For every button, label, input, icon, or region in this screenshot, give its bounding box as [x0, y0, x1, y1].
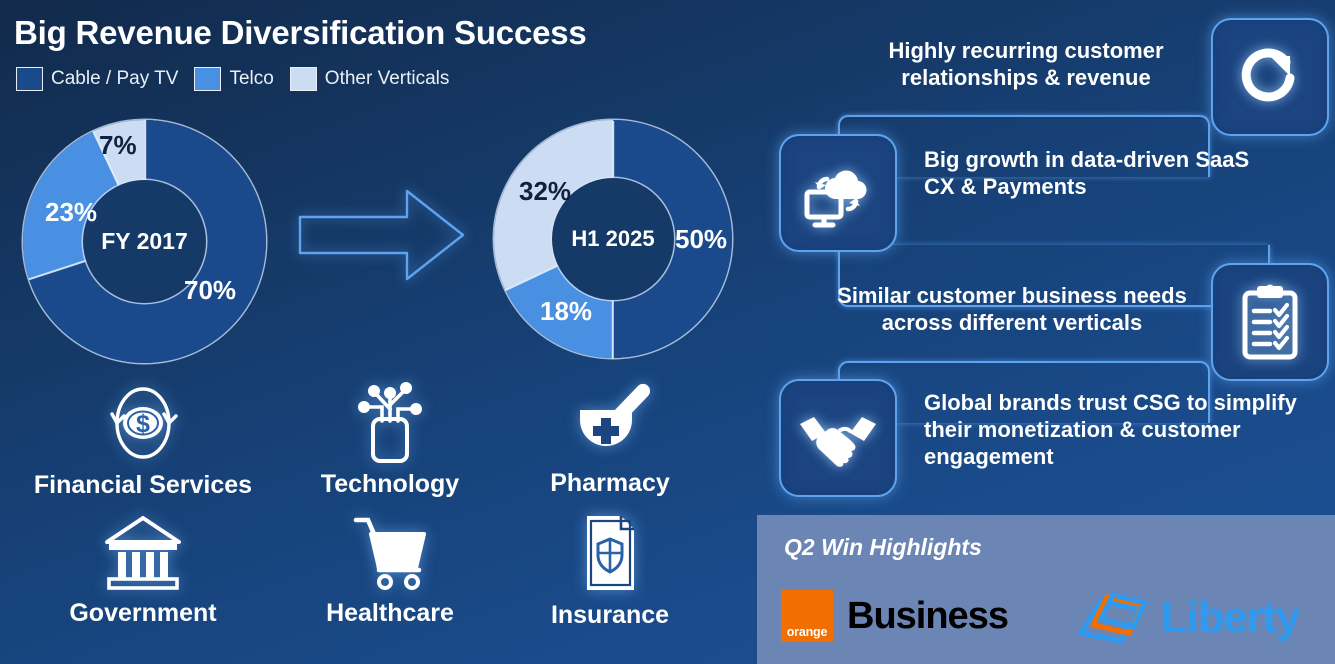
highlight-text-verticals: Similar customer business needs across d…	[820, 283, 1204, 337]
legend-label-cable: Cable / Pay TV	[51, 68, 178, 90]
vertical-label: Pharmacy	[515, 469, 705, 498]
highlight-text-global-brands: Global brands trust CSG to simplify thei…	[924, 390, 1304, 470]
vertical-financial-services[interactable]: $ Financial Services	[18, 378, 268, 500]
q2-panel-title: Q2 Win Highlights	[784, 534, 982, 561]
legend-label-telco: Telco	[229, 68, 273, 90]
donut-value-label-telco: 18%	[540, 296, 592, 327]
liberty-mark-icon	[1077, 591, 1151, 645]
donut-center-label: FY 2017	[101, 228, 188, 255]
legend-label-other: Other Verticals	[325, 68, 450, 90]
highlight-tile-saas[interactable]	[779, 134, 897, 252]
orange-mark-text: orange	[787, 625, 827, 639]
donut-value-label-other: 32%	[519, 176, 571, 207]
liberty-word: Liberty	[1161, 593, 1299, 643]
vertical-technology[interactable]: Technology	[290, 375, 490, 499]
highlight-tile-verticals[interactable]	[1211, 263, 1329, 381]
vertical-healthcare[interactable]: Healthcare	[290, 512, 490, 628]
q2-win-highlights-panel: Q2 Win Highlights orange Business Libert…	[757, 515, 1335, 664]
donut-value-label-cable: 70%	[184, 275, 236, 306]
donut-chart-h12025: H1 2025 50% 18% 32%	[494, 120, 732, 358]
cloud-monitor-sync-icon	[799, 156, 877, 230]
legend-item-cable: Cable / Pay TV	[16, 67, 178, 91]
shopping-cart-icon	[348, 512, 432, 592]
vertical-label: Financial Services	[18, 471, 268, 500]
highlight-text-saas: Big growth in data-driven SaaS CX & Paym…	[924, 147, 1284, 201]
slide-root: Big Revenue Diversification Success Cabl…	[0, 0, 1335, 664]
orange-business-word: Business	[847, 595, 1008, 638]
vertical-label: Insurance	[515, 601, 705, 630]
highlight-tile-recurring[interactable]	[1211, 18, 1329, 136]
mortar-pestle-icon	[566, 378, 654, 462]
handshake-icon	[796, 408, 880, 468]
vertical-label: Healthcare	[290, 599, 490, 628]
chart-legend: Cable / Pay TV Telco Other Verticals	[16, 67, 449, 91]
svg-text:$: $	[136, 410, 150, 438]
orange-mark: orange	[781, 590, 833, 642]
highlight-text-recurring: Highly recurring customer relationships …	[848, 38, 1204, 92]
donut-value-label-other: 7%	[99, 130, 137, 161]
right-arrow-icon	[295, 185, 470, 285]
orange-business-logo: orange Business	[781, 590, 1008, 642]
vertical-insurance[interactable]: Insurance	[515, 512, 705, 630]
legend-item-telco: Telco	[194, 67, 273, 91]
liberty-logo: Liberty	[1077, 591, 1299, 645]
circuit-tree-icon	[349, 375, 431, 463]
legend-swatch-cable	[16, 67, 43, 91]
refresh-arrow-icon	[1233, 40, 1307, 114]
vertical-label: Government	[18, 599, 268, 628]
page-title: Big Revenue Diversification Success	[14, 14, 587, 52]
legend-swatch-telco	[194, 67, 221, 91]
donut-chart-fy2017: FY 2017 70% 23% 7%	[23, 120, 266, 363]
vertical-pharmacy[interactable]: Pharmacy	[515, 378, 705, 498]
donut-value-label-telco: 23%	[45, 197, 97, 228]
legend-swatch-other	[290, 67, 317, 91]
legend-item-other: Other Verticals	[290, 67, 450, 91]
donut-value-label-cable: 50%	[675, 224, 727, 255]
vertical-government[interactable]: Government	[18, 512, 268, 628]
clipboard-check-icon	[1237, 283, 1303, 361]
donut-center-label: H1 2025	[571, 226, 654, 252]
dollar-refresh-icon: $	[100, 378, 186, 464]
document-shield-icon	[577, 512, 643, 594]
bank-columns-icon	[101, 512, 185, 592]
highlight-tile-global-brands[interactable]	[779, 379, 897, 497]
vertical-label: Technology	[290, 470, 490, 499]
